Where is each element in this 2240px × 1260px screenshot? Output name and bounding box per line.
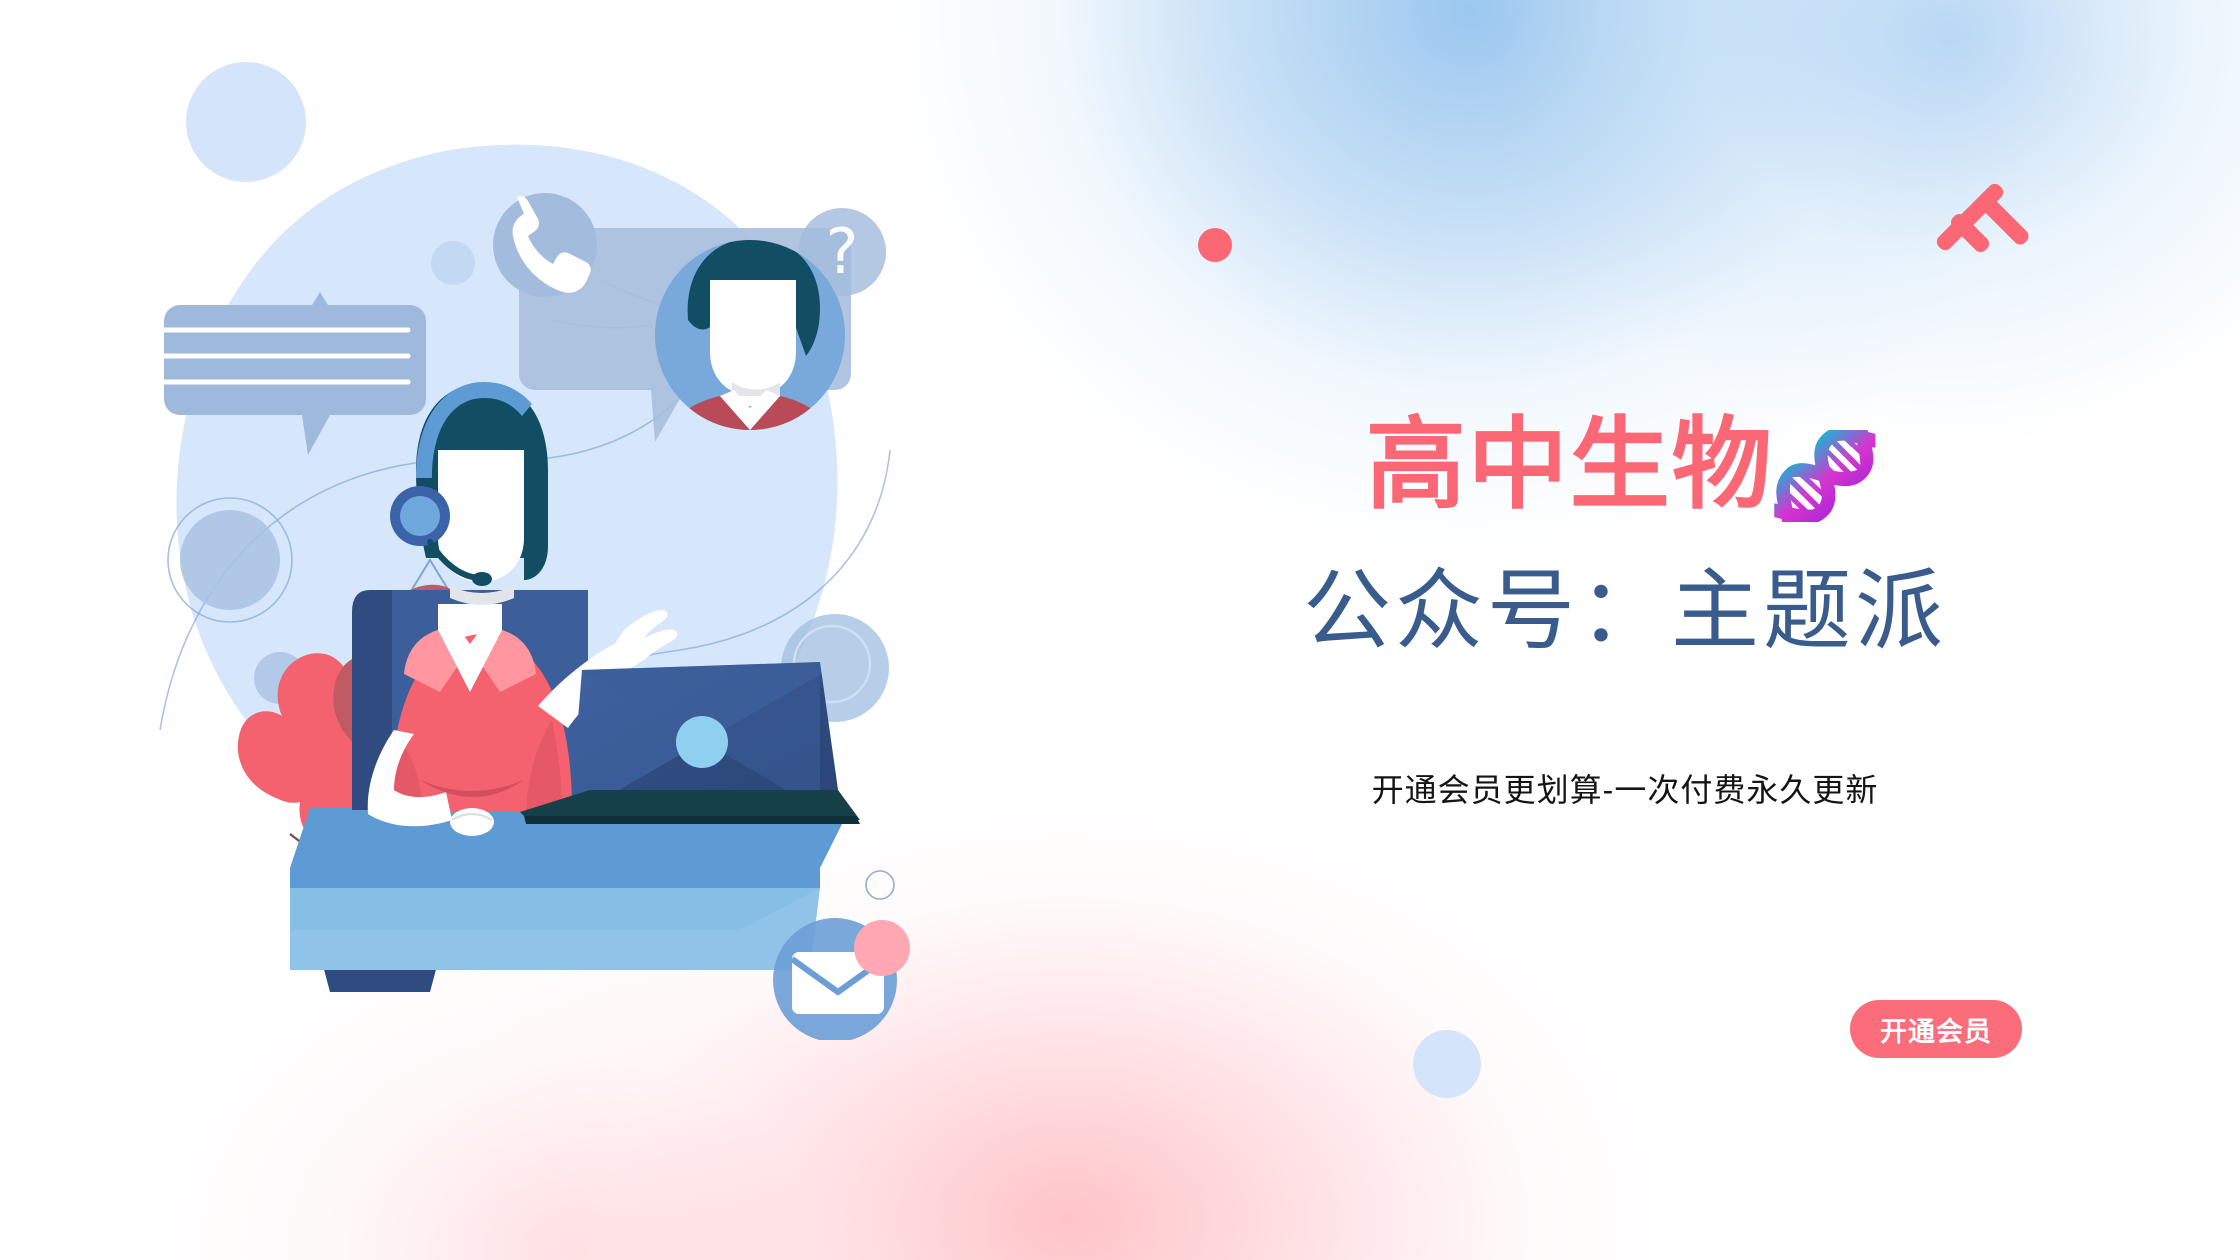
slide-canvas: ? <box>0 0 2240 1260</box>
phone-icon <box>493 193 597 297</box>
customer-service-agent-illustration: ? <box>120 30 1000 1040</box>
email-icon <box>773 918 910 1040</box>
dna-emoji: 🧬 <box>1768 430 1885 522</box>
membership-tagline: 开通会员更划算-一次付费永久更新 <box>1180 770 2070 812</box>
notification-dot <box>854 920 910 976</box>
join-membership-button[interactable]: 开通会员 <box>1850 1000 2022 1058</box>
page-title: 高中生物🧬 <box>1180 408 2070 523</box>
page-subtitle: 公众号：主题派 <box>1180 558 2070 664</box>
page-title-text: 高中生物 <box>1366 409 1774 521</box>
svg-text:?: ? <box>826 215 859 288</box>
hero-text-column: 高中生物🧬 公众号：主题派 开通会员更划算-一次付费永久更新 开通会员 <box>1180 0 2240 1260</box>
desk <box>290 808 850 970</box>
